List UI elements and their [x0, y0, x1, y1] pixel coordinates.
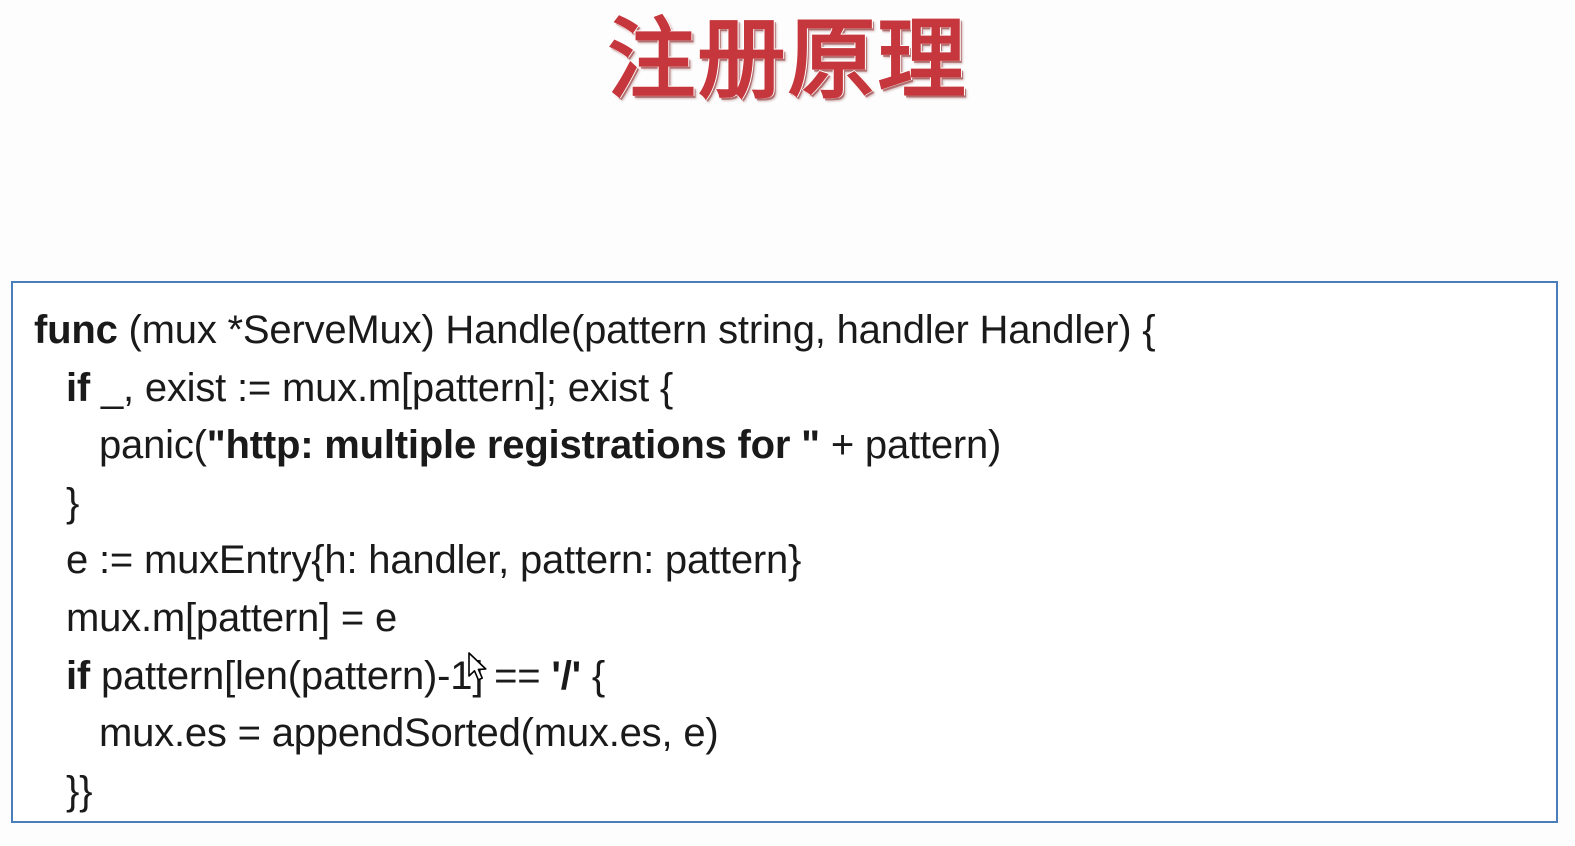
code-token-bold: func: [34, 308, 118, 352]
code-token-bold: "http: multiple registrations for ": [207, 423, 820, 467]
code-token-bold: if: [66, 654, 90, 698]
code-line: e := muxEntry{h: handler, pattern: patte…: [13, 532, 1556, 590]
code-token: mux.m[pattern] = e: [66, 596, 397, 640]
code-token-bold: '/': [551, 654, 581, 698]
code-token: mux.es = appendSorted(mux.es, e): [99, 711, 718, 755]
code-token: pattern[len(pattern)-1] ==: [90, 654, 551, 698]
code-token: (mux *ServeMux) Handle(pattern string, h…: [118, 308, 1156, 352]
code-token: }}: [66, 769, 92, 813]
code-token: e := muxEntry{h: handler, pattern: patte…: [66, 538, 801, 582]
code-token: }: [66, 481, 79, 525]
page-title: 注册原理: [0, 8, 1575, 112]
code-line: mux.m[pattern] = e: [13, 590, 1556, 648]
code-token: _, exist := mux.m[pattern]; exist {: [90, 366, 673, 410]
code-line: }: [13, 475, 1556, 533]
code-line: mux.es = appendSorted(mux.es, e): [13, 705, 1556, 763]
code-token: panic(: [99, 423, 207, 467]
code-lines-container: func (mux *ServeMux) Handle(pattern stri…: [13, 283, 1556, 820]
slide-canvas: 注册原理 func (mux *ServeMux) Handle(pattern…: [0, 0, 1575, 846]
code-line: func (mux *ServeMux) Handle(pattern stri…: [13, 302, 1556, 360]
code-token-bold: if: [66, 366, 90, 410]
code-line: if pattern[len(pattern)-1] == '/' {: [13, 648, 1556, 706]
code-line: }}: [13, 763, 1556, 821]
code-block-panel: func (mux *ServeMux) Handle(pattern stri…: [11, 281, 1558, 823]
code-token: {: [581, 654, 605, 698]
code-token: + pattern): [820, 423, 1001, 467]
code-line: panic("http: multiple registrations for …: [13, 417, 1556, 475]
code-line: if _, exist := mux.m[pattern]; exist {: [13, 360, 1556, 418]
